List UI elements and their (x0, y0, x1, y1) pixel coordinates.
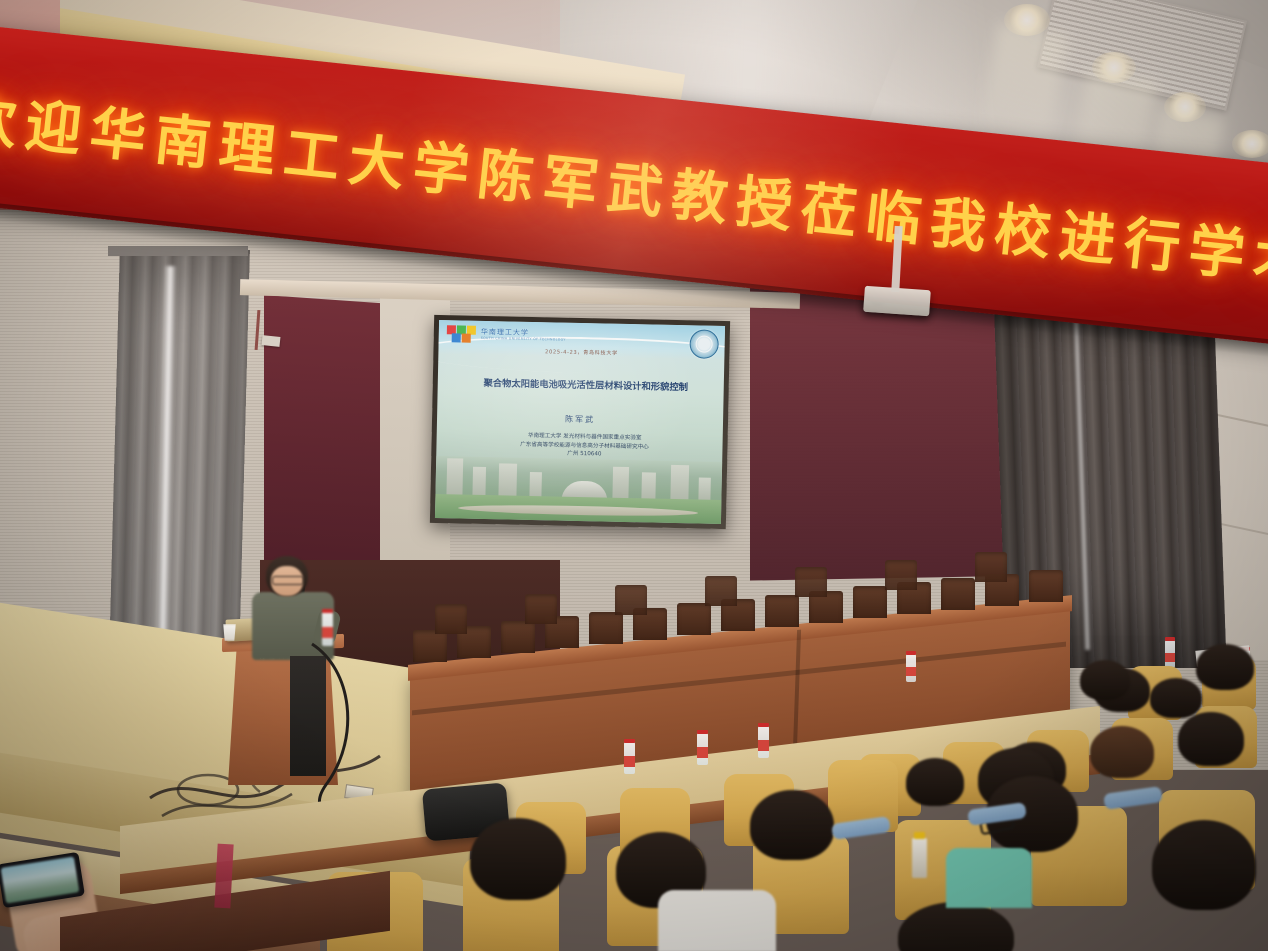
audience-head (1150, 678, 1202, 718)
chair[interactable] (413, 630, 447, 662)
bottle-label (906, 667, 916, 676)
bottle-cap-icon (697, 730, 708, 734)
bottle-cap-icon (906, 651, 916, 655)
audience-head (470, 818, 566, 900)
chair[interactable] (941, 578, 975, 610)
chair[interactable] (1029, 570, 1063, 602)
chair[interactable] (615, 585, 647, 615)
bottle-label (624, 756, 635, 766)
chair[interactable] (975, 552, 1007, 582)
wall-speaker-fixture (262, 335, 281, 347)
stage-step-marker (214, 844, 233, 909)
speaker-glasses-icon (272, 576, 304, 585)
chair[interactable] (677, 603, 711, 635)
chair[interactable] (525, 594, 557, 624)
audience-head (750, 790, 834, 860)
chair[interactable] (795, 567, 827, 597)
bottle-cap-icon (322, 609, 333, 613)
water-bottle[interactable] (758, 726, 769, 758)
audience-teal-shirt (946, 848, 1032, 908)
bottle-cap-icon (1165, 637, 1175, 641)
chair[interactable] (853, 586, 887, 618)
presentation-slide: 华南理工大学 SOUTH CHINA UNIVERSITY OF TECHNOL… (435, 320, 725, 524)
bottle-label (1165, 653, 1175, 662)
audience-head (1178, 712, 1244, 766)
front-row-chairs (405, 558, 1075, 668)
chair[interactable] (885, 560, 917, 590)
audience-white-shirt (658, 890, 776, 951)
water-bottle[interactable] (1165, 640, 1175, 668)
audience-head (1152, 820, 1256, 910)
bottle-cap-icon (758, 723, 769, 727)
bottle-cap-icon (624, 739, 635, 743)
bottle-label (758, 740, 769, 750)
water-bottle[interactable] (697, 733, 708, 765)
juice-bottle[interactable] (912, 838, 927, 878)
water-bottle[interactable] (906, 654, 916, 682)
audience-head (906, 758, 964, 806)
ceiling-light-4 (1232, 130, 1268, 158)
bottle-label (697, 747, 708, 757)
bottle-label (322, 627, 333, 638)
audience-head (1080, 660, 1130, 700)
lecture-hall-photo: 华南理工大学 SOUTH CHINA UNIVERSITY OF TECHNOL… (0, 0, 1268, 951)
projection-screen: 华南理工大学 SOUTH CHINA UNIVERSITY OF TECHNOL… (430, 315, 730, 529)
water-bottle[interactable] (624, 742, 635, 774)
chair[interactable] (501, 621, 535, 653)
chair[interactable] (435, 604, 467, 634)
chair[interactable] (705, 576, 737, 606)
chair[interactable] (765, 595, 799, 627)
slide-projection-glare (435, 320, 725, 524)
curtain-left-top-rail (108, 246, 248, 256)
audience-head (1090, 726, 1154, 778)
juice-bottle-cap-icon (914, 832, 925, 839)
audience-head (1196, 644, 1254, 690)
chair[interactable] (589, 612, 623, 644)
